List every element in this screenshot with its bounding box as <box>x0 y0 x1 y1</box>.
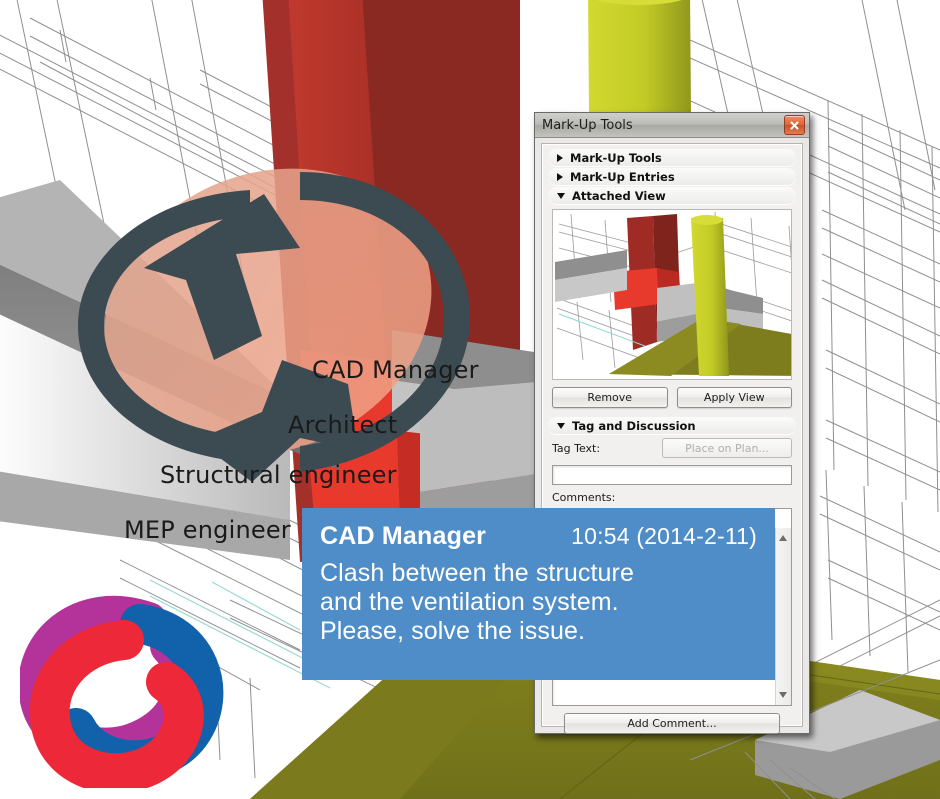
chevron-down-icon <box>557 193 565 199</box>
callout-author: CAD Manager <box>320 522 486 551</box>
remove-button[interactable]: Remove <box>552 387 668 408</box>
attached-view-thumbnail[interactable] <box>552 209 792 380</box>
comments-scrollbar[interactable] <box>775 528 791 705</box>
close-icon[interactable] <box>784 115 805 135</box>
section-header-tag-and-discussion[interactable]: Tag and Discussion <box>548 417 796 434</box>
chevron-down-icon <box>557 423 565 429</box>
apply-view-button[interactable]: Apply View <box>677 387 793 408</box>
dialog-titlebar[interactable]: Mark-Up Tools <box>535 113 809 138</box>
collaboration-cycle-graphic: CAD Manager Architect Structural enginee… <box>0 130 540 490</box>
callout-line: and the ventilation system. <box>320 588 757 617</box>
section-label: Tag and Discussion <box>572 419 696 433</box>
callout-line: Please, solve the issue. <box>320 617 757 646</box>
chevron-right-icon <box>557 173 563 181</box>
comments-label: Comments: <box>552 491 796 504</box>
role-label-mep-engineer: MEP engineer <box>124 516 291 544</box>
section-header-attached-view[interactable]: Attached View <box>548 187 796 204</box>
tag-text-label: Tag Text: <box>552 442 600 455</box>
scroll-down-arrow-icon[interactable] <box>779 692 787 698</box>
place-on-plan-button[interactable]: Place on Plan... <box>662 438 792 458</box>
screenshot-root: CAD Manager Architect Structural enginee… <box>0 0 940 799</box>
section-label: Attached View <box>572 189 666 203</box>
section-label: Mark-Up Tools <box>570 151 662 165</box>
callout-body: Clash between the structure and the vent… <box>320 559 757 646</box>
chevron-right-icon <box>557 154 563 162</box>
section-header-markup-entries[interactable]: Mark-Up Entries <box>548 168 796 185</box>
callout-line: Clash between the structure <box>320 559 757 588</box>
role-label-architect: Architect <box>288 411 397 439</box>
callout-header: CAD Manager 10:54 (2014-2-11) <box>320 522 757 551</box>
scroll-up-arrow-icon[interactable] <box>779 535 787 541</box>
dialog-title: Mark-Up Tools <box>542 118 633 133</box>
tag-text-row: Tag Text: Place on Plan... <box>552 438 792 458</box>
callout-timestamp: 10:54 (2014-2-11) <box>571 523 757 550</box>
comment-callout: CAD Manager 10:54 (2014-2-11) Clash betw… <box>302 508 775 680</box>
trefoil-rings-logo <box>20 588 225 788</box>
add-comment-button[interactable]: Add Comment... <box>564 713 780 734</box>
role-label-cad-manager: CAD Manager <box>312 356 479 384</box>
attached-view-button-row: Remove Apply View <box>552 387 792 408</box>
section-label: Mark-Up Entries <box>570 170 675 184</box>
section-header-markup-tools[interactable]: Mark-Up Tools <box>548 149 796 166</box>
role-label-structural-engineer: Structural engineer <box>160 461 397 489</box>
tag-text-input[interactable] <box>552 465 792 485</box>
